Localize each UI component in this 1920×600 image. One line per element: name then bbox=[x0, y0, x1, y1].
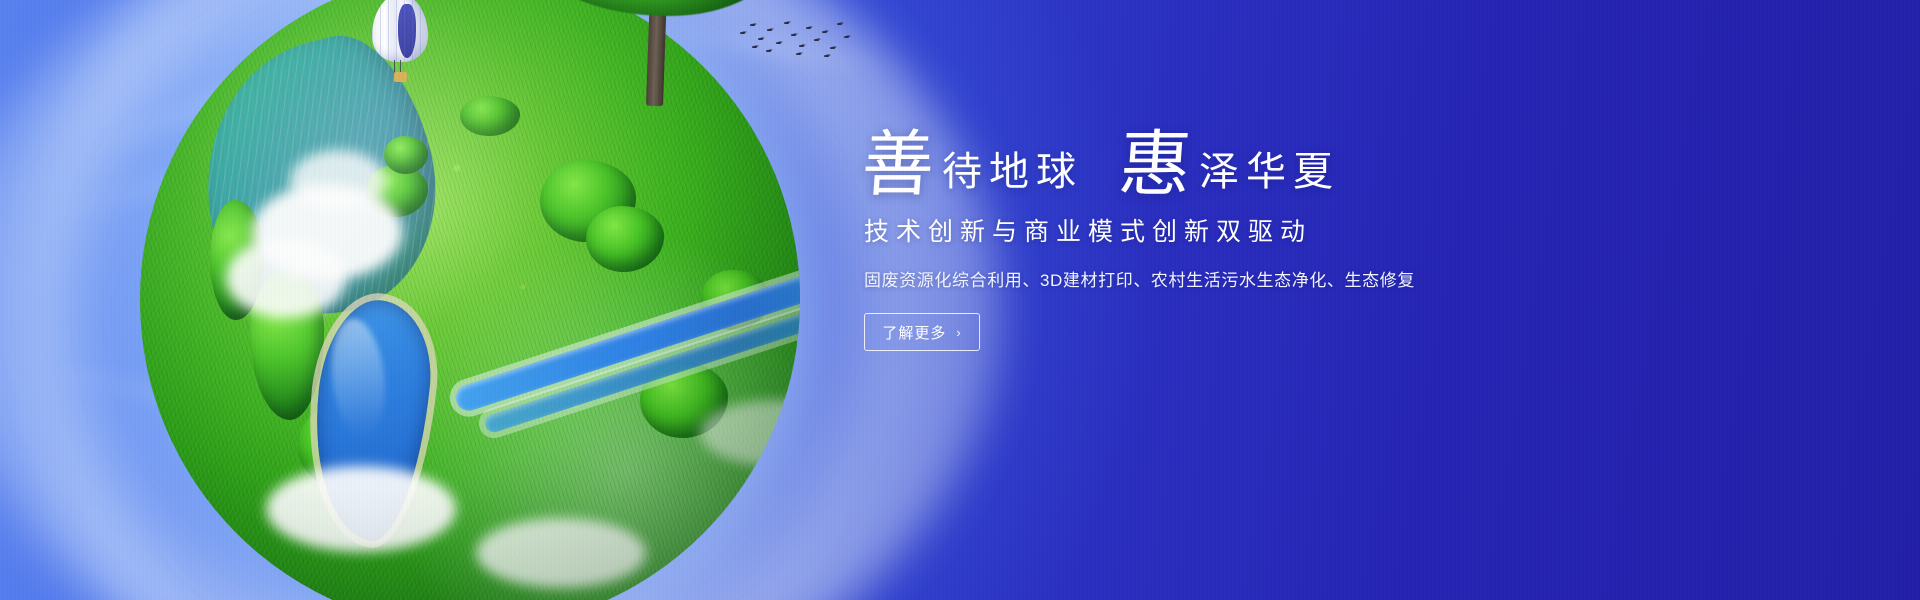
headline-phrase-2-rest: 泽华夏 bbox=[1199, 152, 1340, 198]
hero-subtitle: 技术创新与商业模式创新双驱动 bbox=[864, 212, 1462, 248]
green-planet-illustration bbox=[140, 0, 800, 600]
hot-air-balloon-icon bbox=[372, 0, 428, 86]
bird-flock-icon bbox=[736, 20, 856, 60]
headline-phrase-1-rest: 待地球 bbox=[942, 152, 1083, 198]
balloon-envelope bbox=[372, 0, 428, 62]
leaf-highlights bbox=[540, 0, 780, 16]
learn-more-label: 了解更多 bbox=[882, 322, 946, 343]
headline-phrase-1-lead: 善 bbox=[860, 132, 937, 198]
balloon-basket bbox=[394, 72, 407, 82]
tree-canopy bbox=[540, 0, 780, 16]
headline-phrase-2-lead: 惠 bbox=[1117, 132, 1194, 198]
headline-phrase-2: 惠 泽华夏 bbox=[1119, 132, 1340, 198]
balloon-ribs bbox=[372, 0, 428, 62]
chevron-right-icon: › bbox=[956, 326, 961, 339]
hero-banner: 善 待地球 惠 泽华夏 技术创新与商业模式创新双驱动 固废资源化综合利用、3D建… bbox=[0, 0, 1920, 600]
learn-more-button[interactable]: 了解更多 › bbox=[864, 313, 980, 351]
hero-headline: 善 待地球 惠 泽华夏 bbox=[862, 132, 1462, 198]
headline-phrase-1: 善 待地球 bbox=[862, 132, 1083, 198]
hero-content: 善 待地球 惠 泽华夏 技术创新与商业模式创新双驱动 固废资源化综合利用、3D建… bbox=[862, 132, 1462, 351]
hero-description: 固废资源化综合利用、3D建材打印、农村生活污水生态净化、生态修复 bbox=[864, 266, 1462, 291]
